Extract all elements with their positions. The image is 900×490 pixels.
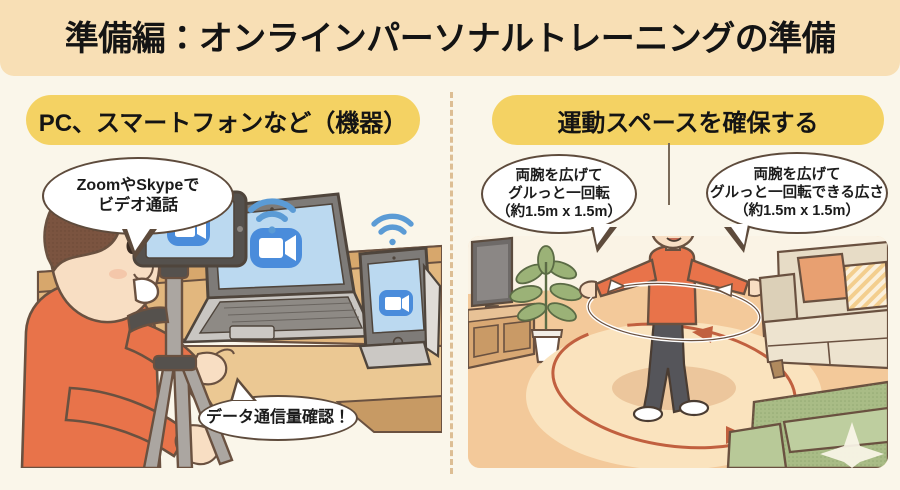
callout-video-call-line-2: ビデオ通話 xyxy=(77,196,200,216)
callout-data-usage-line-1: データ通信量確認！ xyxy=(206,408,350,427)
wifi-icon-tablet xyxy=(374,216,411,245)
callout-video-call: ZoomやSkypeで ビデオ通話 xyxy=(42,157,234,235)
callout-space-right-line-2: グルっと一回転できる広さ xyxy=(710,184,884,202)
callout-space-right-line-3: （約1.5m x 1.5m） xyxy=(710,202,884,220)
title-band: 準備編：オンラインパーソナルトレーニングの準備 xyxy=(0,0,900,76)
callout-space-right: 両腕を広げて グルっと一回転できる広さ （約1.5m x 1.5m） xyxy=(706,152,888,234)
bubble-tail xyxy=(230,377,257,401)
callout-space-left-line-1: 両腕を広げて xyxy=(496,167,622,185)
callout-data-usage: データ通信量確認！ xyxy=(198,395,358,441)
section-header-exercise-space-label: 運動スペースを確保する xyxy=(557,103,818,138)
beige-sofa xyxy=(760,242,888,378)
exercise-space-scene-svg xyxy=(468,236,888,468)
callout-space-right-line-1: 両腕を広げて xyxy=(710,166,884,184)
illustration-exercise-space xyxy=(468,236,888,468)
section-header-devices-label: PC、スマートフォンなど（機器） xyxy=(39,103,408,138)
bubble-tail xyxy=(122,229,157,259)
callout-space-left: 両腕を広げて グルっと一回転 （約1.5m x 1.5m） xyxy=(481,154,637,234)
bubble-tail xyxy=(724,227,750,253)
pill-connector-line xyxy=(668,143,670,205)
section-header-devices: PC、スマートフォンなど（機器） xyxy=(26,95,420,145)
callout-space-left-line-2: グルっと一回転 xyxy=(496,185,622,203)
section-divider xyxy=(450,92,453,474)
tablet-on-stand xyxy=(360,248,440,368)
infographic-page: 準備編：オンラインパーソナルトレーニングの準備 PC、スマートフォンなど（機器）… xyxy=(0,0,900,490)
section-header-exercise-space: 運動スペースを確保する xyxy=(492,95,884,145)
callout-video-call-line-1: ZoomやSkypeで xyxy=(77,176,200,196)
bubble-tail xyxy=(591,227,617,253)
callout-space-left-line-3: （約1.5m x 1.5m） xyxy=(496,203,622,221)
page-title: 準備編：オンラインパーソナルトレーニングの準備 xyxy=(0,11,900,60)
